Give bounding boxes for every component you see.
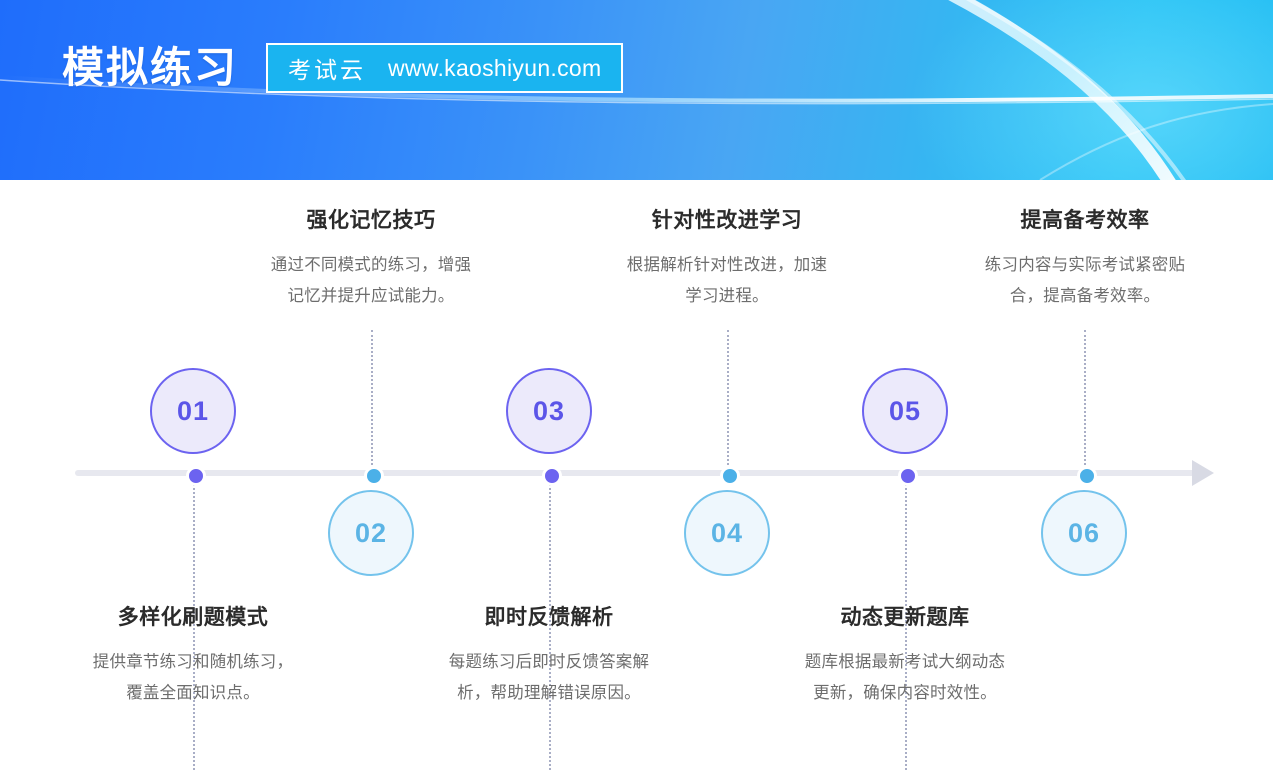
node-desc-1: 提供章节练习和随机练习，覆盖全面知识点。 [88, 647, 298, 709]
node-dot-1[interactable] [186, 466, 206, 486]
page-header: 模拟练习 考试云 www.kaoshiyun.com [0, 0, 1273, 180]
node-circle-4[interactable]: 04 [684, 490, 770, 576]
connector-line-4 [727, 330, 729, 473]
node-circle-1[interactable]: 01 [150, 368, 236, 454]
node-dot-3[interactable] [542, 466, 562, 486]
node-number-5: 05 [889, 396, 921, 427]
node-title-3: 即时反馈解析 [444, 603, 654, 633]
node-text-1: 多样化刷题模式 提供章节练习和随机练习，覆盖全面知识点。 [88, 603, 298, 709]
brand-logo-box[interactable]: 考试云 www.kaoshiyun.com [266, 43, 623, 93]
node-text-3: 即时反馈解析 每题练习后即时反馈答案解析，帮助理解错误原因。 [444, 603, 654, 709]
node-desc-4: 根据解析针对性改进，加速学习进程。 [622, 250, 832, 312]
node-dot-6[interactable] [1077, 466, 1097, 486]
timeline-board: 01 多样化刷题模式 提供章节练习和随机练习，覆盖全面知识点。 02 强化记忆技… [0, 180, 1273, 738]
node-number-3: 03 [533, 396, 565, 427]
connector-line-2 [371, 330, 373, 473]
node-number-1: 01 [177, 396, 209, 427]
node-text-6: 提高备考效率 练习内容与实际考试紧密贴合，提高备考效率。 [980, 206, 1190, 312]
node-text-5: 动态更新题库 题库根据最新考试大纲动态更新，确保内容时效性。 [800, 603, 1010, 709]
node-title-4: 针对性改进学习 [622, 206, 832, 236]
node-desc-2: 通过不同模式的练习，增强记忆并提升应试能力。 [266, 250, 476, 312]
node-circle-5[interactable]: 05 [862, 368, 948, 454]
connector-line-6 [1084, 330, 1086, 473]
brand-website-url: www.kaoshiyun.com [388, 55, 601, 82]
node-circle-2[interactable]: 02 [328, 490, 414, 576]
node-desc-3: 每题练习后即时反馈答案解析，帮助理解错误原因。 [444, 647, 654, 709]
node-title-2: 强化记忆技巧 [266, 206, 476, 236]
node-title-1: 多样化刷题模式 [88, 603, 298, 633]
node-circle-6[interactable]: 06 [1041, 490, 1127, 576]
node-dot-2[interactable] [364, 466, 384, 486]
node-title-6: 提高备考效率 [980, 206, 1190, 236]
node-desc-5: 题库根据最新考试大纲动态更新，确保内容时效性。 [800, 647, 1010, 709]
node-number-4: 04 [711, 518, 743, 549]
node-text-4: 针对性改进学习 根据解析针对性改进，加速学习进程。 [622, 206, 832, 312]
timeline-arrow-icon [1192, 460, 1214, 486]
node-text-2: 强化记忆技巧 通过不同模式的练习，增强记忆并提升应试能力。 [266, 206, 476, 312]
node-desc-6: 练习内容与实际考试紧密贴合，提高备考效率。 [980, 250, 1190, 312]
node-dot-4[interactable] [720, 466, 740, 486]
node-number-6: 06 [1068, 518, 1100, 549]
brand-name-cn: 考试云 [288, 51, 366, 85]
node-number-2: 02 [355, 518, 387, 549]
timeline-axis [75, 470, 1200, 476]
node-title-5: 动态更新题库 [800, 603, 1010, 633]
node-dot-5[interactable] [898, 466, 918, 486]
page-title: 模拟练习 [62, 38, 238, 98]
node-circle-3[interactable]: 03 [506, 368, 592, 454]
